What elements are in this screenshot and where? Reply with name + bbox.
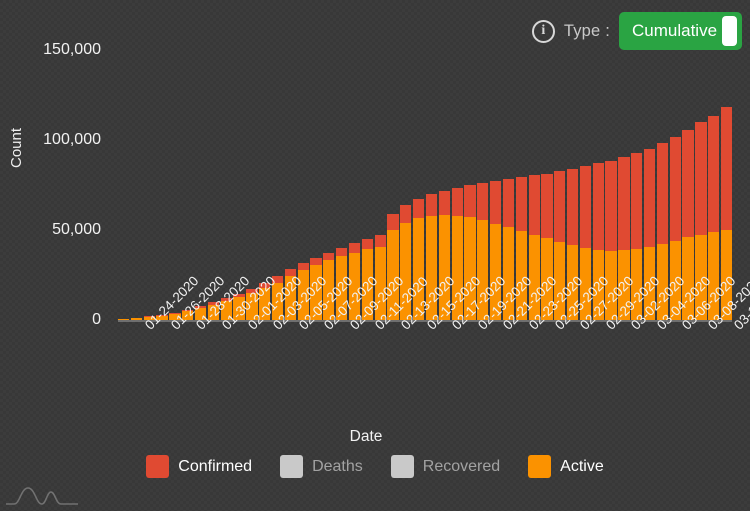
x-axis-tick-label: 01-24-2020 (142, 322, 153, 333)
bar-segment-confirmed[interactable] (657, 143, 668, 244)
x-axis-tick-label: 02-17-2020 (449, 322, 460, 333)
x-axis-tick-label: 03-02-2020 (628, 322, 639, 333)
bar-segment-confirmed[interactable] (721, 107, 732, 230)
legend-swatch-icon[interactable] (391, 455, 414, 478)
x-axis-tick-label: 02-29-2020 (603, 322, 614, 333)
x-axis-ticks: 01-24-202001-26-202001-28-202001-30-2020… (118, 322, 732, 432)
x-axis-tick-label: 02-19-2020 (475, 322, 486, 333)
x-axis-tick-label: 02-15-2020 (424, 322, 435, 333)
legend-swatch-icon[interactable] (528, 455, 551, 478)
bar-segment-confirmed[interactable] (682, 130, 693, 238)
bar-segment-confirmed[interactable] (490, 181, 501, 224)
x-axis-tick-label: 03-10-2020 (731, 322, 742, 333)
bar-segment-confirmed[interactable] (708, 116, 719, 233)
legend-swatch-icon[interactable] (146, 455, 169, 478)
x-axis-tick-label: 02-25-2020 (552, 322, 563, 333)
legend-item-label: Confirmed (178, 458, 252, 476)
bar-segment-confirmed[interactable] (516, 177, 527, 231)
x-axis-tick-label: 02-03-2020 (270, 322, 281, 333)
x-axis-tick-label: 03-04-2020 (654, 322, 665, 333)
bar-segment-confirmed[interactable] (567, 169, 578, 246)
bar-segment-confirmed[interactable] (670, 137, 681, 241)
bar-segment-confirmed[interactable] (464, 185, 475, 217)
y-axis-tick-label: 50,000 (1, 221, 101, 239)
bar-segment-confirmed[interactable] (593, 163, 604, 250)
bar-segment-confirmed[interactable] (605, 161, 616, 251)
x-axis-tick-label: 02-13-2020 (398, 322, 409, 333)
x-axis-tick-label: 01-30-2020 (219, 322, 230, 333)
x-axis-tick-label: 01-28-2020 (193, 322, 204, 333)
y-axis-tick-label: 100,000 (1, 131, 101, 149)
legend-item-label: Deaths (312, 458, 363, 476)
x-axis-title: Date (0, 428, 732, 446)
x-axis-tick-label: 02-23-2020 (526, 322, 537, 333)
bar-segment-confirmed[interactable] (541, 174, 552, 239)
x-axis-tick-label: 02-07-2020 (321, 322, 332, 333)
bar-segment-confirmed[interactable] (503, 179, 514, 227)
x-axis-tick-label: 03-06-2020 (679, 322, 690, 333)
bar-segment-confirmed[interactable] (400, 205, 411, 223)
x-axis-tick-label: 02-21-2020 (500, 322, 511, 333)
x-axis-tick-label: 01-26-2020 (168, 322, 179, 333)
bar-chart: Count 050,000100,000150,000 01-24-202001… (0, 0, 750, 511)
bar-segment-confirmed[interactable] (426, 194, 437, 216)
bar-segment-confirmed[interactable] (644, 149, 655, 247)
y-axis-tick-label: 0 (1, 311, 101, 329)
legend-item-recovered[interactable]: Recovered (391, 455, 500, 478)
chart-dashboard: i Type : Cumulative Count 050,000100,000… (0, 0, 750, 511)
bar-segment-confirmed[interactable] (477, 183, 488, 220)
bar-segment-confirmed[interactable] (310, 258, 321, 265)
x-axis-tick-label: 02-27-2020 (577, 322, 588, 333)
legend-item-label: Recovered (423, 458, 500, 476)
bar-segment-confirmed[interactable] (631, 153, 642, 249)
legend-item-deaths[interactable]: Deaths (280, 455, 363, 478)
bar-segment-confirmed[interactable] (349, 243, 360, 253)
x-axis-tick-label: 02-05-2020 (296, 322, 307, 333)
x-axis-tick-label: 02-01-2020 (245, 322, 256, 333)
bar-segment-confirmed[interactable] (336, 248, 347, 256)
bar-segment-confirmed[interactable] (375, 235, 386, 246)
bar-segment-confirmed[interactable] (439, 191, 450, 215)
x-axis-tick-label: 02-09-2020 (347, 322, 358, 333)
chart-legend: ConfirmedDeathsRecoveredActive (0, 455, 750, 478)
legend-item-active[interactable]: Active (528, 455, 604, 478)
sparkline-curve-icon[interactable] (4, 479, 82, 509)
x-axis-tick-label: 02-11-2020 (372, 322, 383, 333)
bar-segment-confirmed[interactable] (452, 188, 463, 216)
y-axis-tick-label: 150,000 (1, 41, 101, 59)
bar-segment-confirmed[interactable] (695, 122, 706, 234)
legend-swatch-icon[interactable] (280, 455, 303, 478)
legend-item-confirmed[interactable]: Confirmed (146, 455, 252, 478)
bar-segment-confirmed[interactable] (580, 166, 591, 248)
bar-segment-confirmed[interactable] (323, 253, 334, 260)
bar-segment-confirmed[interactable] (618, 157, 629, 250)
legend-item-label: Active (560, 458, 604, 476)
bar-segment-confirmed[interactable] (554, 171, 565, 242)
x-axis-tick-label: 03-08-2020 (705, 322, 716, 333)
bar-segment-confirmed[interactable] (298, 263, 309, 270)
bar-segment-confirmed[interactable] (362, 239, 373, 250)
bar-segment-confirmed[interactable] (387, 214, 398, 230)
bar-segment-confirmed[interactable] (413, 199, 424, 219)
bar-segment-confirmed[interactable] (529, 175, 540, 234)
